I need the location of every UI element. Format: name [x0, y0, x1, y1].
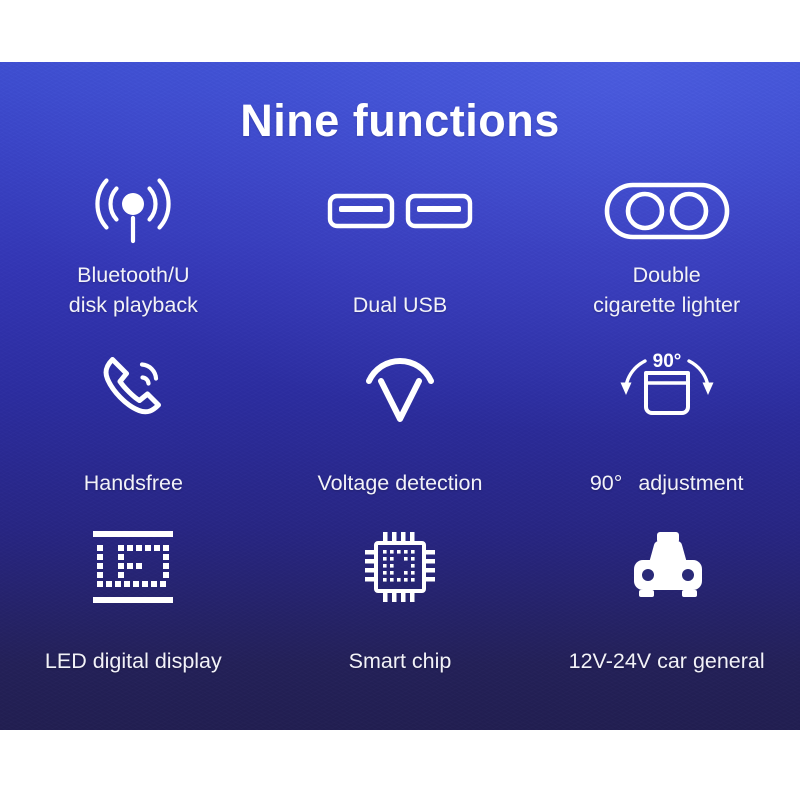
feature-label: Voltage detection [318, 438, 483, 498]
feature-label-line1: Double [593, 260, 740, 290]
feature-label: 12V-24V car general [569, 616, 765, 676]
feature-item-dual-usb: Dual USB [267, 168, 534, 346]
page-title: Nine functions [0, 98, 800, 143]
phone-handset-icon [93, 346, 173, 432]
feature-label-line1: Smart chip [349, 646, 452, 676]
feature-item-cigarette-lighter: Double cigarette lighter [533, 168, 800, 346]
feature-item-handsfree: Handsfree [0, 346, 267, 524]
feature-label-line1: Dual USB [353, 290, 447, 320]
feature-label-line2: cigarette lighter [593, 290, 740, 320]
dual-usb-port-icon [327, 168, 473, 254]
feature-label-line1: 12V-24V car general [569, 646, 765, 676]
feature-label-line2: disk playback [69, 290, 198, 320]
feature-item-bluetooth: Bluetooth/U disk playback [0, 168, 267, 346]
feature-label: Handsfree [84, 438, 183, 498]
infographic-page: Nine functions [0, 0, 800, 800]
feature-item-led-display: LED digital display [0, 524, 267, 702]
feature-label: 90°adjustment [590, 438, 744, 498]
feature-label-prefix: 90° [590, 471, 623, 495]
feature-label-line1: Voltage detection [318, 468, 483, 498]
feature-label: Double cigarette lighter [593, 260, 740, 320]
bluetooth-signal-icon [94, 168, 172, 254]
feature-item-90-adjustment: 90° 90°adjustment [533, 346, 800, 524]
feature-label: Smart chip [349, 616, 452, 676]
feature-grid: Bluetooth/U disk playback [0, 168, 800, 702]
rotation-90-degree-icon: 90° [612, 346, 722, 432]
car-front-icon [621, 524, 713, 610]
feature-label-line1: Bluetooth/U [69, 260, 198, 290]
feature-item-smart-chip: Smart chip [267, 524, 534, 702]
feature-label: Dual USB [353, 260, 447, 320]
smart-chip-icon [360, 524, 440, 610]
voltmeter-icon [361, 346, 439, 432]
feature-label-suffix: adjustment [638, 471, 743, 495]
feature-label-line1: LED digital display [45, 646, 222, 676]
feature-item-voltage-detection: Voltage detection [267, 346, 534, 524]
feature-label: Bluetooth/U disk playback [69, 260, 198, 320]
feature-item-car-general: 12V-24V car general [533, 524, 800, 702]
feature-label-line1: Handsfree [84, 468, 183, 498]
led-dot-matrix-icon [87, 524, 179, 610]
rotation-icon-caption: 90° [652, 351, 681, 372]
blue-panel: Nine functions [0, 62, 800, 730]
feature-label: LED digital display [45, 616, 222, 676]
double-cigarette-lighter-icon [604, 168, 730, 254]
